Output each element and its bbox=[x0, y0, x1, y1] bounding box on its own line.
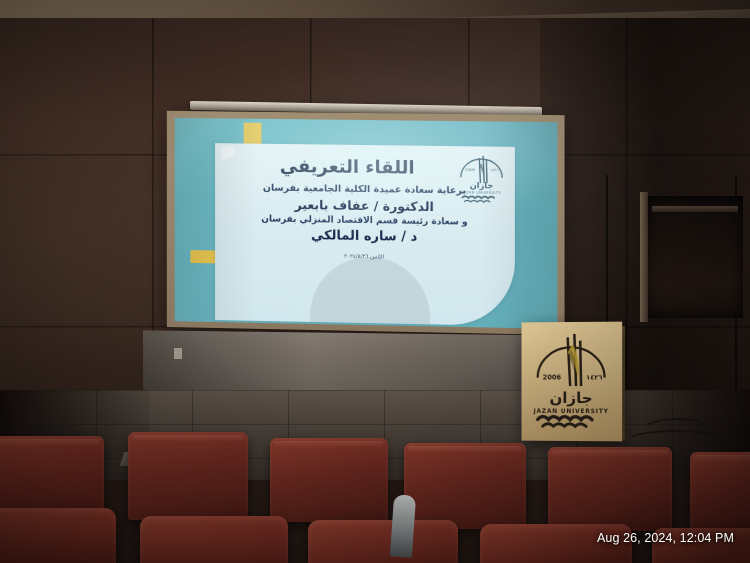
seat bbox=[0, 508, 116, 563]
slide-patron-name: الدكتورة / عفاف بابعير bbox=[215, 196, 515, 216]
slide-decorative-arc bbox=[310, 256, 430, 326]
svg-text:جازان: جازان bbox=[549, 389, 592, 407]
wall-niche-cabinet bbox=[645, 196, 743, 318]
seat bbox=[308, 520, 458, 563]
photo-timestamp: Aug 26, 2024, 12:04 PM bbox=[597, 531, 734, 545]
slide-dept-head-name: د / ساره المالكي bbox=[215, 227, 515, 247]
svg-text:2006: 2006 bbox=[543, 373, 562, 381]
seat bbox=[128, 432, 248, 520]
slide-content-card: 2006 ١٤٢٦ جازان JAZAN UNIVERSITY اللقاء … bbox=[215, 143, 515, 326]
wall-switch-plate bbox=[174, 348, 182, 359]
slide-dept-head-line: و سعادة رئيسة قسم الاقتصاد المنزلي بفرسا… bbox=[215, 214, 515, 229]
lower-wall-shading bbox=[143, 330, 563, 398]
niche-edge-trim bbox=[640, 192, 648, 322]
seat bbox=[548, 447, 672, 531]
svg-text:JAZAN UNIVERSITY: JAZAN UNIVERSITY bbox=[533, 409, 609, 415]
seat bbox=[270, 438, 388, 522]
slide-title: اللقاء التعريفي bbox=[215, 155, 515, 180]
projection-screen-surface: 2006 ١٤٢٦ جازان JAZAN UNIVERSITY اللقاء … bbox=[175, 118, 558, 329]
svg-text:١٤٢٦: ١٤٢٦ bbox=[586, 373, 602, 381]
seat-armrest bbox=[390, 494, 416, 557]
slide-text-block: اللقاء التعريفي برعاية سعادة عميدة الكلي… bbox=[215, 155, 515, 263]
lecture-hall-photo: 2006 ١٤٢٦ جازان JAZAN UNIVERSITY اللقاء … bbox=[0, 0, 750, 563]
seat bbox=[140, 516, 288, 563]
seat bbox=[690, 452, 750, 534]
projection-screen-frame: 2006 ١٤٢٦ جازان JAZAN UNIVERSITY اللقاء … bbox=[167, 111, 565, 335]
lower-wall-band bbox=[143, 330, 563, 398]
seat bbox=[404, 443, 526, 529]
podium: 2006 ١٤٢٦ جازان JAZAN UNIVERSITY bbox=[522, 322, 623, 442]
slide-accent-bar-top bbox=[244, 123, 262, 145]
niche-shelf bbox=[652, 206, 738, 212]
jazan-university-logo-podium: 2006 ١٤٢٦ جازان JAZAN UNIVERSITY bbox=[529, 330, 613, 433]
slide-patron-line: برعاية سعادة عميدة الكلية الجامعية بفرسا… bbox=[215, 182, 515, 197]
